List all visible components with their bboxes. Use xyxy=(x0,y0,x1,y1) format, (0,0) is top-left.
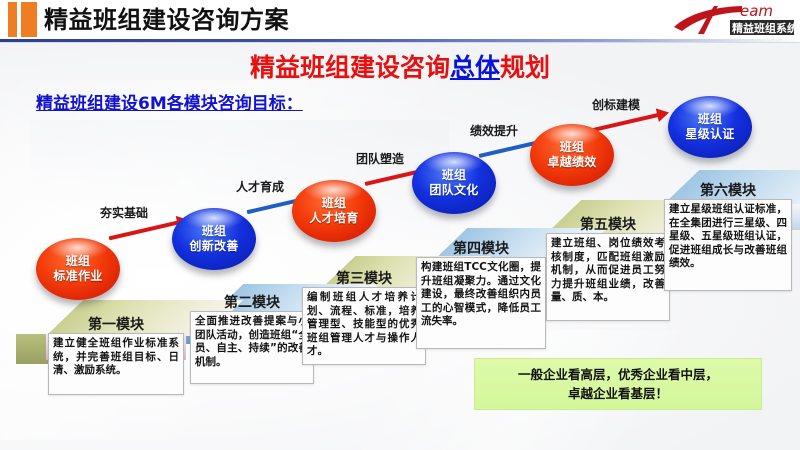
module-text-1: 建立健全班组作业标准系统，并完善班组目标、日清、激励系统。 xyxy=(48,333,184,395)
stage-oval-5-line1: 班组 xyxy=(560,140,585,155)
stage-oval-3[interactable]: 班组 人才培育 xyxy=(292,180,376,242)
module-text-5: 建立班组、岗位绩效考核制度，匹配班组激励机制，从而促进员工努力提升班组业绩，改善… xyxy=(546,233,670,321)
stage-oval-4[interactable]: 班组 团队文化 xyxy=(412,152,496,214)
module-text-4: 构建班组TCC文化圈，提升班组凝聚力。通过文化建设，最终改善组织内员工的心智模式… xyxy=(416,257,546,349)
page-title-part2: 规划 xyxy=(500,53,550,82)
arrow-label-5: 创标建模 xyxy=(592,96,640,113)
step-side-face xyxy=(16,334,48,364)
page-subtitle: 精益班组建设6M各模块咨询目标： xyxy=(36,89,303,114)
page-title-part1: 精益班组建设咨询 xyxy=(250,53,450,82)
stage-oval-3-line2: 人才培育 xyxy=(309,211,358,226)
stage-oval-1-line2: 标准作业 xyxy=(53,269,102,284)
slide-canvas: 精益班组建设咨询方案 eam 精益班组系统 T eam 精益班组系统 精益班组建… xyxy=(0,0,800,450)
arrow-shaft xyxy=(109,220,180,240)
stage-oval-6-line1: 班组 xyxy=(698,112,723,127)
stage-oval-3-line1: 班组 xyxy=(322,196,347,211)
header-accent-bar xyxy=(8,2,17,37)
quote-line-2: 卓越企业看基层！ xyxy=(568,384,668,403)
arrow-label-3: 团队塑造 xyxy=(356,150,404,167)
stage-oval-4-line2: 团队文化 xyxy=(429,183,478,198)
stage-oval-4-line1: 班组 xyxy=(442,168,467,183)
svg-text:eam: eam xyxy=(740,2,773,20)
page-title: 精益班组建设咨询总体规划 xyxy=(0,48,800,84)
arrow-shaft xyxy=(593,113,660,132)
header-accent-bar xyxy=(21,2,37,37)
stage-oval-6-line2: 星级认证 xyxy=(685,127,734,142)
module-text-2: 全面推进改善提案与小团队活动，创造班组“全员、自主、持续”的改善机制。 xyxy=(190,311,314,384)
stage-oval-5[interactable]: 班组 卓越绩效 xyxy=(530,124,614,186)
stage-oval-6[interactable]: 班组 星级认证 xyxy=(668,96,752,158)
module-text-6: 建立星级班组认证标准，在全集团进行三星级、四星级、五星级班组认证，促进班组成长与… xyxy=(664,199,792,291)
arrow-label-2: 人才育成 xyxy=(236,178,284,195)
team-logo: eam 精益班组系统 T eam 精益班组系统 xyxy=(668,1,796,39)
header-divider-thin xyxy=(0,42,800,43)
stage-oval-2[interactable]: 班组 创新改善 xyxy=(172,208,256,270)
logo-graphic: eam 精益班组系统 xyxy=(668,1,796,39)
arrow-label-4: 绩效提升 xyxy=(470,122,518,139)
module-title-6: 第六模块 xyxy=(664,180,792,200)
header-title: 精益班组建设咨询方案 xyxy=(44,2,289,38)
module-title-2: 第二模块 xyxy=(190,292,314,312)
module-title-3: 第三模块 xyxy=(302,268,426,288)
stage-oval-5-line2: 卓越绩效 xyxy=(547,155,596,170)
quote-box: 一般企业看高层，优秀企业看中层， 卓越企业看基层！ xyxy=(474,358,762,410)
svg-text:精益班组系统: 精益班组系统 xyxy=(732,21,796,35)
slide-header: 精益班组建设咨询方案 eam 精益班组系统 T eam 精益班组系统 xyxy=(0,0,800,40)
module-text-3: 编制班组人才培养计划、流程、标准，培养管理型、技能型的优秀班组管理人才与操作人才… xyxy=(302,287,426,365)
stage-oval-2-line2: 创新改善 xyxy=(189,239,238,254)
module-title-4: 第四模块 xyxy=(416,238,546,258)
module-title-1: 第一模块 xyxy=(46,314,186,334)
stage-oval-2-line1: 班组 xyxy=(202,224,227,239)
arrow-label-1: 夯实基础 xyxy=(100,204,148,221)
stage-oval-1[interactable]: 班组 标准作业 xyxy=(36,238,120,300)
module-title-5: 第五模块 xyxy=(546,214,670,234)
stage-oval-1-line1: 班组 xyxy=(66,254,91,269)
quote-line-1: 一般企业看高层，优秀企业看中层， xyxy=(518,365,718,384)
page-title-highlight: 总体 xyxy=(450,53,500,82)
